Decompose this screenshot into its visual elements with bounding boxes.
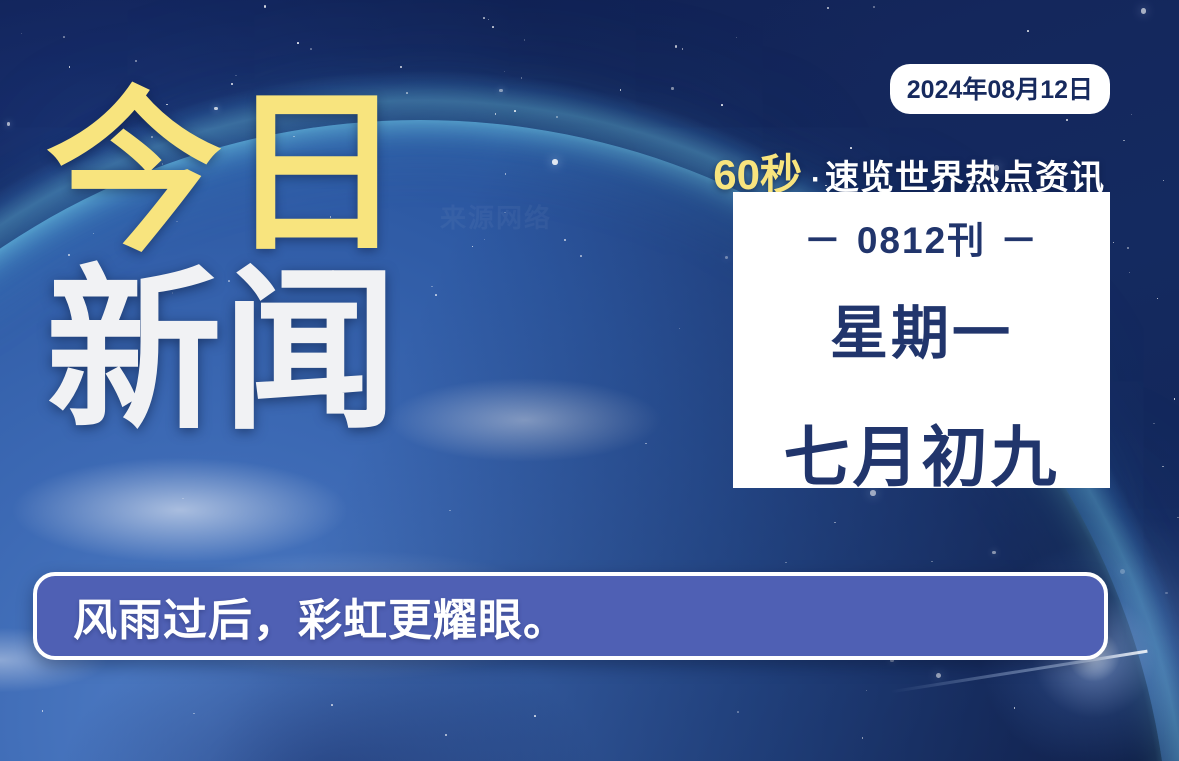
headline-line-today: 今日 <box>46 92 410 256</box>
issue-dash-left: － <box>790 220 857 261</box>
lunar-date-label: 七月初九 <box>784 404 1060 500</box>
date-badge: 2024年08月12日 <box>890 64 1110 114</box>
weekday-label: 星期一 <box>830 286 1013 370</box>
date-card: －0812刊－ 星期一 七月初九 <box>733 192 1110 488</box>
headline-line-news: 新闻 <box>46 270 410 434</box>
headline: 今日 新闻 <box>46 92 410 433</box>
quote-banner: 风雨过后，彩虹更耀眼。 <box>33 572 1108 660</box>
issue-dash-right: － <box>986 220 1053 261</box>
issue-line: －0812刊－ <box>790 210 1053 264</box>
quote-text: 风雨过后，彩虹更耀眼。 <box>37 584 568 648</box>
issue-number: 0812刊 <box>857 220 986 261</box>
news-poster: 来源网络 今日 新闻 2024年08月12日 60秒 · 速览世界热点资讯 －0… <box>0 0 1179 761</box>
